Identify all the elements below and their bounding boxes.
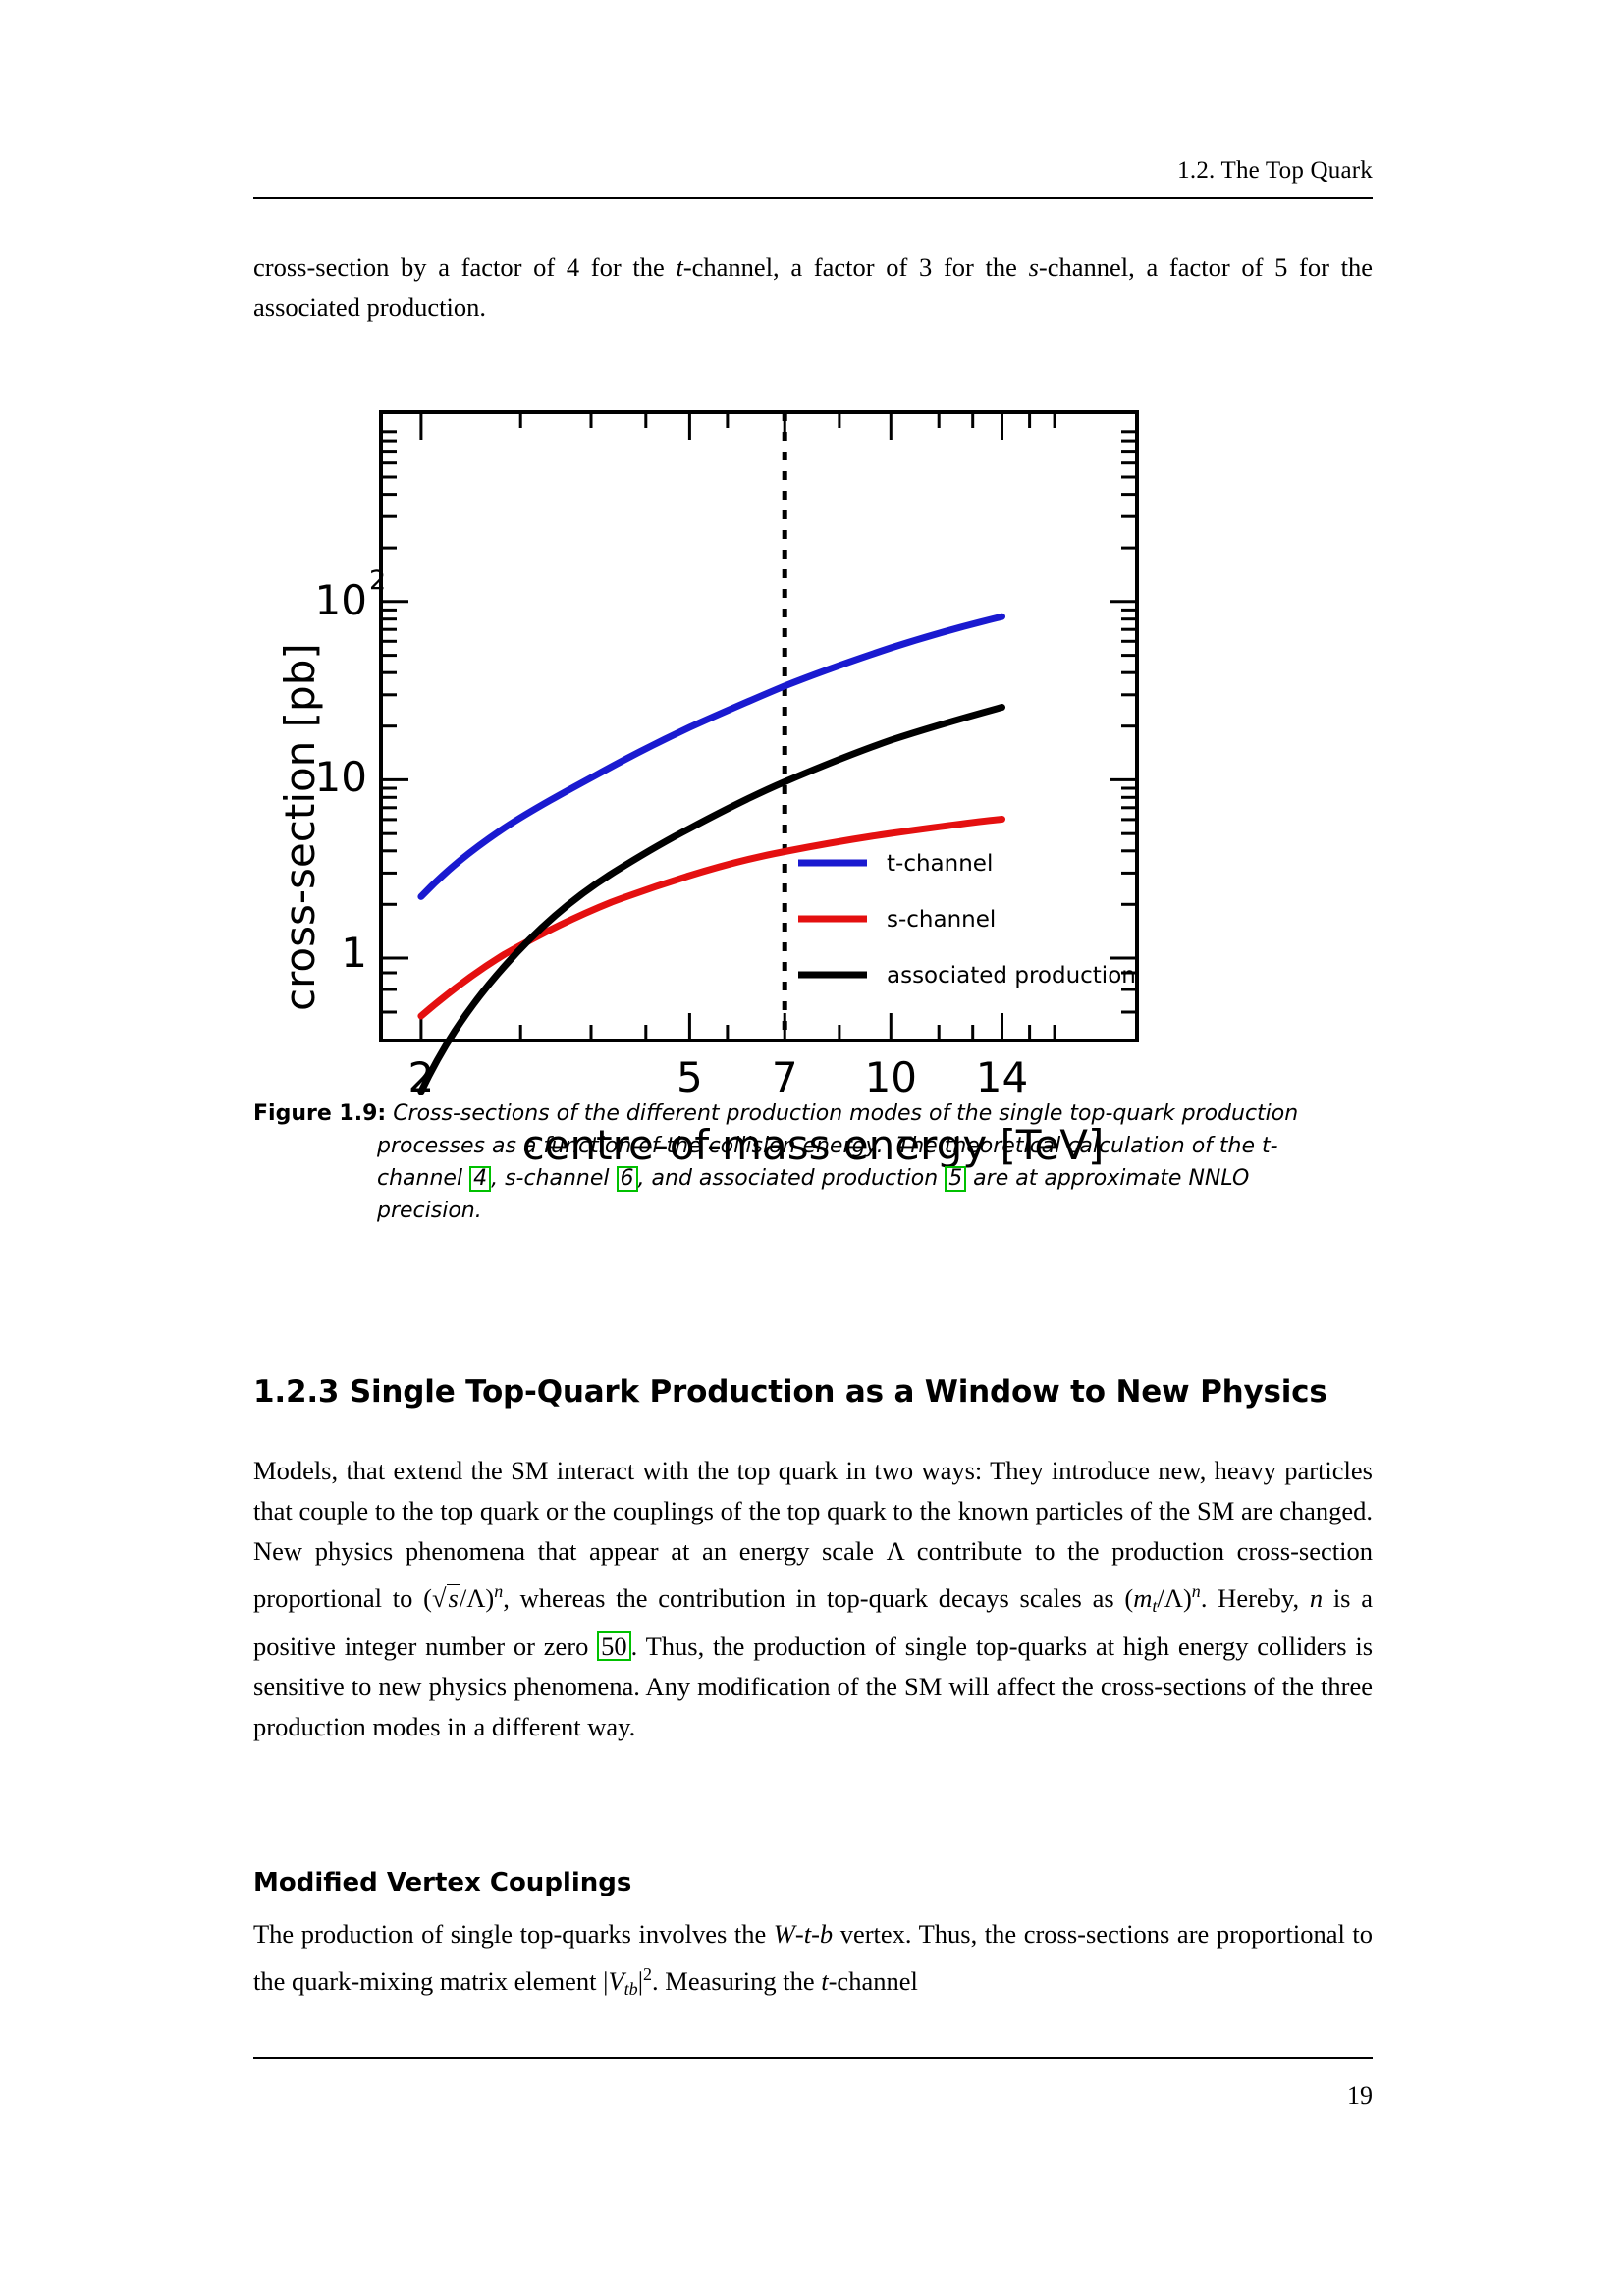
document-page: 1.2. The Top Quark cross-section by a fa…	[0, 0, 1624, 2296]
y-axis-title: cross-section [pb]	[276, 643, 324, 1011]
plot-frame	[381, 412, 1137, 1041]
caption-l2-dash: -	[1271, 1134, 1278, 1158]
vtb-matrix-element: V	[608, 1966, 623, 1996]
ytick-label-1: 1	[341, 929, 367, 977]
caption-l2-t: t	[1262, 1134, 1271, 1158]
caption-l2-b: The theoretical calculation of the	[897, 1134, 1262, 1158]
sqrt-radical-icon: √	[432, 1583, 447, 1613]
exponent-n-1: n	[494, 1581, 503, 1601]
subsection-paragraph: The production of single top-quarks invo…	[253, 1914, 1373, 2009]
page-number: 19	[253, 2081, 1373, 2110]
vtb-exponent: 2	[643, 1964, 652, 1984]
sqrt-s-var: s	[447, 1584, 459, 1613]
t-channel-var: t	[821, 1966, 828, 1996]
sub-dash-2: -	[811, 1919, 820, 1949]
intro-text-b: -channel, a factor of 3 for the	[683, 252, 1029, 282]
caption-line-3: channel 4, s-channel 6, and associated p…	[377, 1162, 1373, 1195]
figure-canvas: t-channel s-channel associated productio…	[253, 393, 1373, 1099]
main-paragraph: Models, that extend the SM interact with…	[253, 1451, 1373, 1747]
ytick-label-100-base: 10	[315, 576, 367, 624]
caption-l3-a: channel	[377, 1166, 469, 1191]
main-seg-6: /	[1157, 1583, 1164, 1613]
mass-m-var: m	[1133, 1583, 1152, 1613]
top-quark-var: t	[804, 1919, 811, 1949]
b-quark-var: b	[820, 1919, 833, 1949]
exponent-n-2: n	[1192, 1581, 1201, 1601]
caption-l3-b: ,	[491, 1166, 505, 1191]
caption-l3-c: -channel	[516, 1166, 617, 1191]
w-boson-var: W	[774, 1919, 795, 1949]
caption-row: Figure 1.9: Cross-sections of the differ…	[253, 1097, 1373, 1130]
xtick-label-14: 14	[976, 1053, 1028, 1099]
main-seg-7: )	[1183, 1583, 1192, 1613]
caption-l3-d: , and associated production	[638, 1166, 946, 1191]
caption-line-4: precision.	[377, 1195, 1373, 1227]
sub-dash-1: -	[795, 1919, 804, 1949]
ytick-label-100-exponent: 2	[369, 565, 386, 596]
sub-seg-f: -channel	[829, 1966, 918, 1996]
caption-l3-s: s	[505, 1166, 515, 1191]
citation-link-4[interactable]: 4	[469, 1166, 491, 1192]
figure-1-9: t-channel s-channel associated productio…	[253, 393, 1373, 1099]
main-seg-4: )	[485, 1583, 494, 1613]
subsection-heading-modified-vertex-couplings: Modified Vertex Couplings	[253, 1868, 631, 1897]
header-chapter-title: 1.2. The Top Quark	[253, 157, 1373, 185]
citation-link-6[interactable]: 6	[617, 1166, 638, 1192]
intro-t-var: t	[676, 252, 682, 282]
caption-l2-a: processes as a function of the collision…	[377, 1134, 884, 1158]
caption-l3-e: are at approximate NNLO	[966, 1166, 1249, 1191]
caption-label: Figure 1.9:	[253, 1101, 386, 1126]
caption-line-1: Cross-sections of the different producti…	[393, 1101, 1298, 1126]
xtick-label-7: 7	[772, 1053, 798, 1099]
intro-paragraph: cross-section by a factor of 4 for the t…	[253, 247, 1373, 328]
main-seg-5: , whereas the contribution in top-quark …	[503, 1583, 1133, 1613]
citation-link-5[interactable]: 5	[945, 1166, 966, 1192]
ytick-label-100: 10 2	[315, 565, 387, 624]
xtick-label-2: 2	[408, 1053, 435, 1099]
intro-s-var: s	[1029, 252, 1039, 282]
vtb-subscript: tb	[624, 1979, 638, 1999]
figure-caption: Figure 1.9: Cross-sections of the differ…	[253, 1097, 1373, 1227]
cross-section-plot: t-channel s-channel associated productio…	[253, 393, 1373, 1099]
section-heading-1-2-3: 1.2.3 Single Top-Quark Production as a W…	[253, 1374, 1327, 1410]
running-header: 1.2. The Top Quark	[253, 157, 1373, 199]
legend-label-associated-production: associated production	[887, 963, 1136, 988]
legend-label-t-channel: t-channel	[887, 851, 993, 877]
caption-line-2: processes as a function of the collision…	[377, 1130, 1373, 1162]
sub-seg-a: The production of single top-quarks invo…	[253, 1919, 774, 1949]
header-rule	[253, 197, 1373, 199]
legend-label-s-channel: s-channel	[887, 907, 996, 933]
xtick-label-5: 5	[677, 1053, 703, 1099]
n-variable: n	[1310, 1583, 1323, 1613]
intro-text-a: cross-section by a factor of 4 for the	[253, 252, 676, 282]
lambda-symbol-3: Λ	[1164, 1583, 1183, 1613]
footer-rule	[253, 2057, 1373, 2059]
lambda-symbol-1: Λ	[887, 1536, 905, 1566]
xtick-label-10: 10	[865, 1053, 917, 1099]
lambda-symbol-2: Λ	[466, 1583, 485, 1613]
citation-link-50[interactable]: 50	[597, 1631, 631, 1662]
main-seg-8: . Hereby,	[1201, 1583, 1310, 1613]
sub-seg-e: . Measuring the	[652, 1966, 821, 1996]
